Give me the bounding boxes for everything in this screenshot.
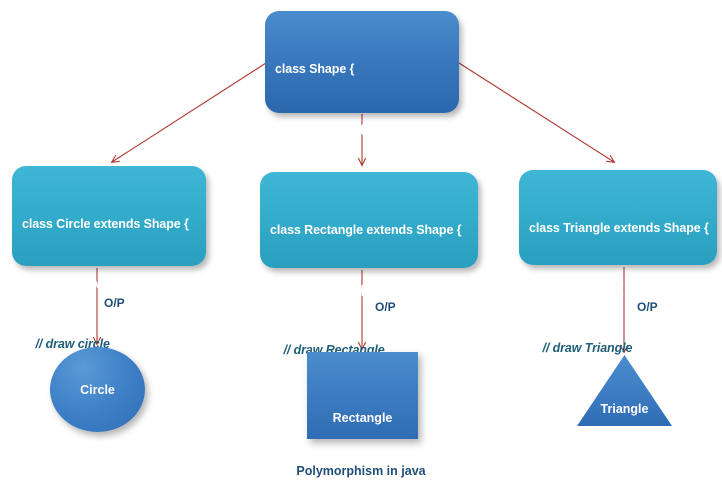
circle-class-box[interactable]: class Circle extends Shape { public draw… xyxy=(12,166,206,266)
polymorphism-diagram-canvas: class Shape { public draw (){} } class C… xyxy=(0,0,722,496)
op-label-circle: O/P xyxy=(104,296,125,310)
output-shape-rectangle-label: Rectangle xyxy=(333,411,393,425)
triangle-code-line-2: public draw() { xyxy=(529,278,707,298)
triangle-code-line-1: class Triangle extends Shape { xyxy=(529,218,707,238)
circle-code-line-2: public draw () { xyxy=(22,274,196,294)
diagram-caption: Polymorphism in java xyxy=(0,464,722,478)
output-shape-rectangle[interactable]: Rectangle xyxy=(307,352,418,439)
shape-code-line-1: class Shape { xyxy=(275,59,449,79)
triangle-class-box[interactable]: class Triangle extends Shape { public dr… xyxy=(519,170,717,265)
op-label-rectangle: O/P xyxy=(375,300,396,314)
circle-code-line-1: class Circle extends Shape { xyxy=(22,214,196,234)
output-shape-triangle-label: Triangle xyxy=(577,402,672,416)
output-shape-circle[interactable]: Circle xyxy=(50,347,145,432)
shape-class-box[interactable]: class Shape { public draw (){} } xyxy=(265,11,459,113)
shape-code-line-2: public draw (){} xyxy=(275,119,449,139)
output-shape-triangle[interactable]: Triangle xyxy=(577,355,672,426)
rectangle-code-line-1: class Rectangle extends Shape { xyxy=(270,220,468,240)
arrow-shape-to-circle xyxy=(112,63,266,162)
op-label-triangle: O/P xyxy=(637,300,658,314)
arrow-shape-to-triangle xyxy=(459,63,614,162)
rectangle-code-line-2: public draw () { xyxy=(270,280,468,300)
rectangle-class-box[interactable]: class Rectangle extends Shape { public d… xyxy=(260,172,478,268)
output-shape-circle-label: Circle xyxy=(80,383,115,397)
